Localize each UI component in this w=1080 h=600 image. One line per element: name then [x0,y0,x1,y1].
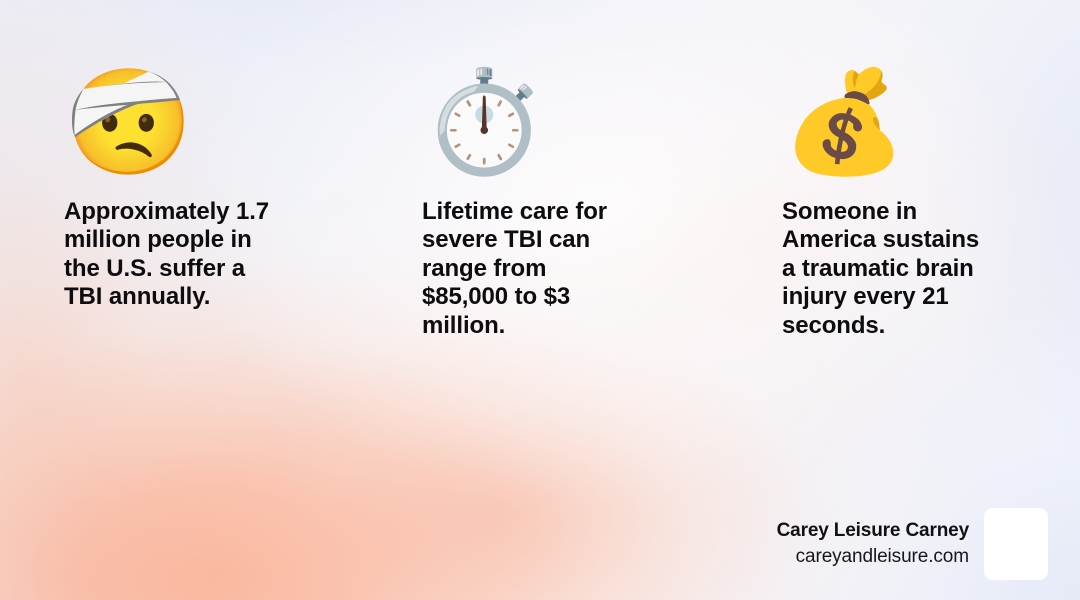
stat-text-3: Someone in America sustains a traumatic … [782,198,1050,340]
money-bag-icon: 💰 [782,62,1050,190]
stopwatch-icon: ⏱️ [422,62,722,190]
face-with-head-bandage-icon: 🤕 [64,62,364,190]
footer-branding: Carey Leisure Carney careyandleisure.com [777,508,1048,580]
stat-column-1: 🤕 Approximately 1.7 million people in th… [64,62,364,312]
stat-column-3: 💰 Someone in America sustains a traumati… [782,62,1050,340]
brand-website[interactable]: careyandleisure.com [777,543,969,570]
stat-text-1: Approximately 1.7 million people in the … [64,198,364,312]
footer-text-block: Carey Leisure Carney careyandleisure.com [777,519,969,570]
brand-logo-placeholder [984,508,1048,580]
brand-name: Carey Leisure Carney [777,519,969,543]
stat-text-2: Lifetime care for severe TBI can range f… [422,198,722,340]
stat-column-2: ⏱️ Lifetime care for severe TBI can rang… [422,62,722,340]
infographic-canvas: 🤕 Approximately 1.7 million people in th… [0,0,1080,600]
